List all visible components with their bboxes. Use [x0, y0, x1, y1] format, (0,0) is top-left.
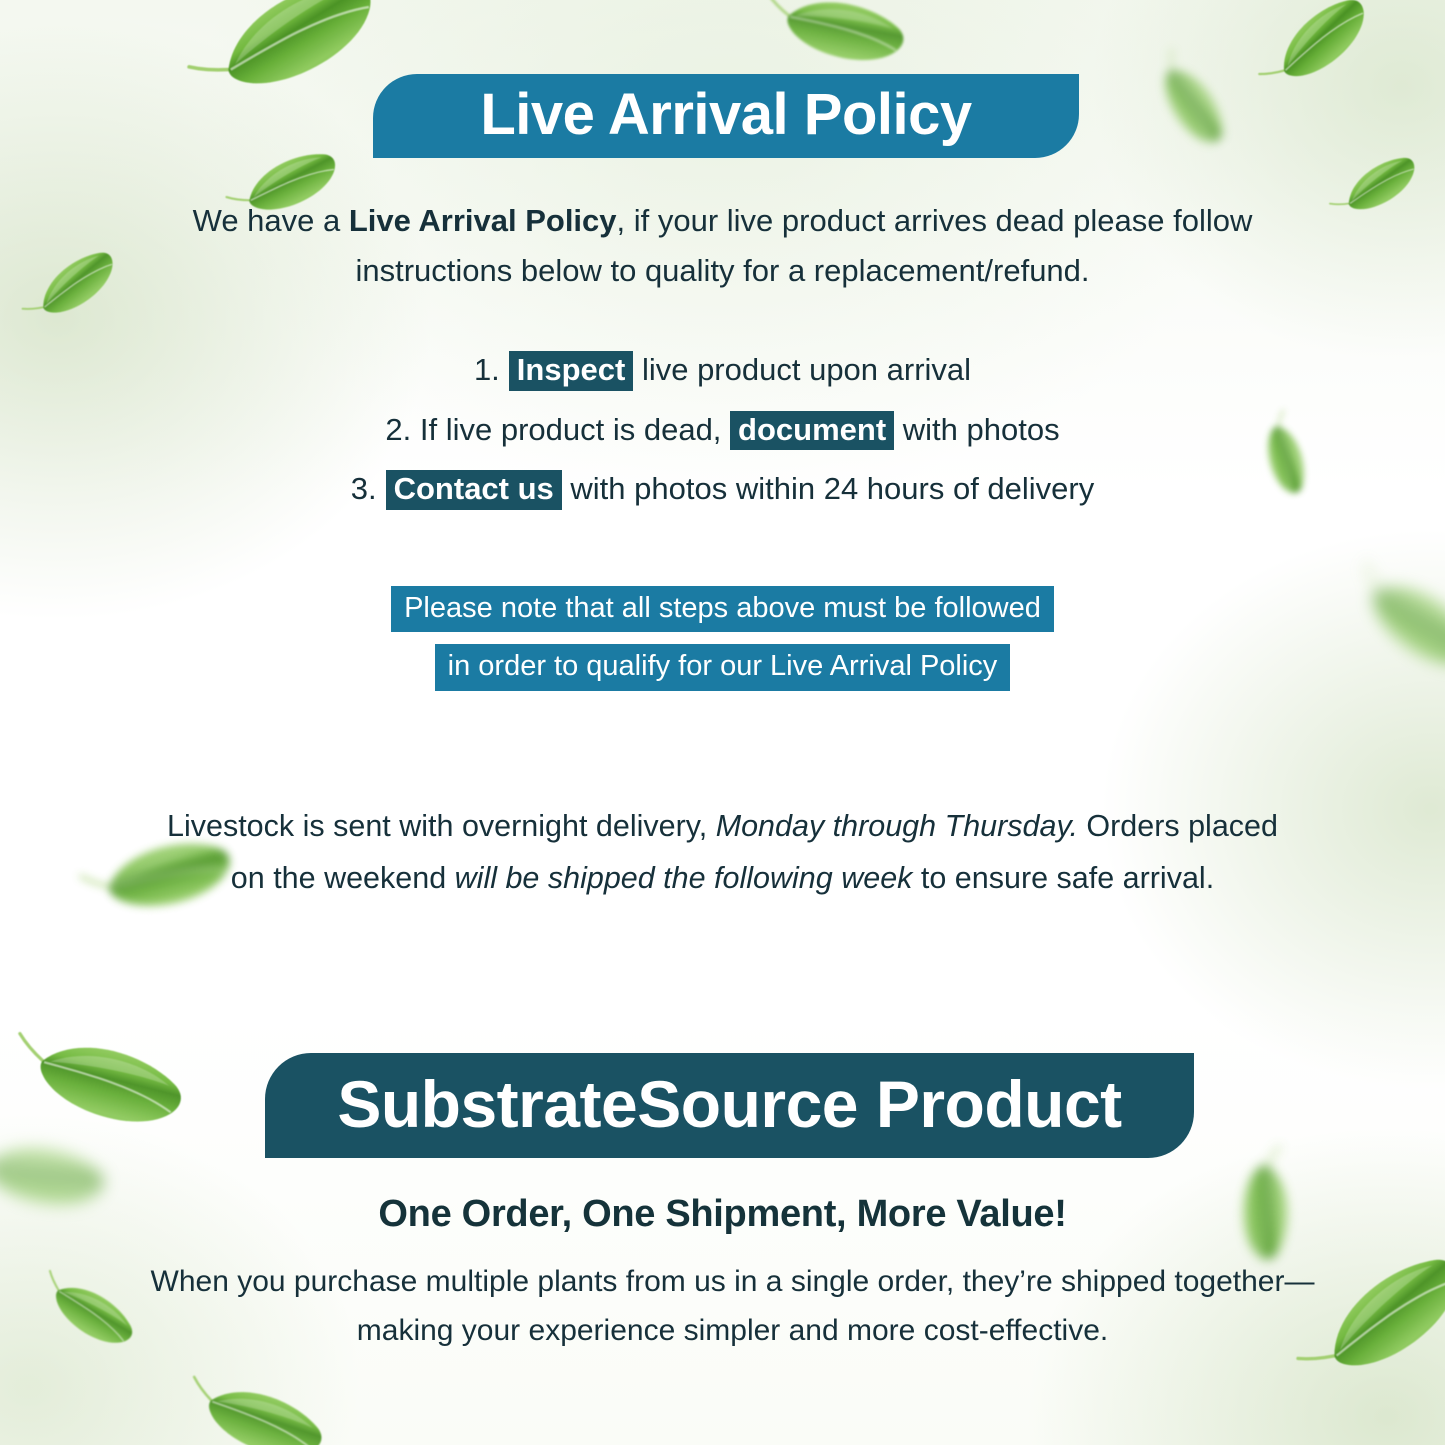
live-arrival-policy-infographic: Live Arrival Policy We have a Live Arriv…: [0, 0, 1445, 1445]
step-3-highlight: Contact us: [386, 470, 562, 510]
step-1-number: 1.: [474, 352, 500, 387]
shipping-text-seg4-italic: will be shipped the following week: [455, 861, 913, 895]
step-2-number: 2.: [385, 412, 411, 447]
policy-step-2: 2. If live product is dead, document wit…: [150, 410, 1295, 451]
live-arrival-policy-banner: Live Arrival Policy: [373, 74, 1079, 158]
step-2-text-before: If live product is dead,: [411, 412, 730, 447]
policy-step-3: 3.Contact us with photos within 24 hours…: [150, 469, 1295, 510]
live-arrival-policy-title: Live Arrival Policy: [480, 81, 971, 148]
policy-step-1: 1.Inspect live product upon arrival: [150, 350, 1295, 391]
value-subheading: One Order, One Shipment, More Value!: [150, 1193, 1295, 1236]
step-2-text-after: with photos: [894, 412, 1059, 447]
step-2-highlight: document: [730, 411, 894, 451]
substratesource-product-title: SubstrateSource Product: [337, 1066, 1121, 1142]
shipping-text-seg5: to ensure safe arrival.: [912, 861, 1214, 895]
intro-paragraph: We have a Live Arrival Policy, if your l…: [150, 196, 1295, 296]
intro-text-emphasis: Live Arrival Policy: [349, 203, 617, 238]
step-3-text: with photos within 24 hours of delivery: [562, 471, 1094, 506]
livestock-shipping-paragraph: Livestock is sent with overnight deliver…: [150, 800, 1295, 905]
intro-text-before: We have a: [193, 203, 349, 238]
policy-note-line-1: Please note that all steps above must be…: [391, 586, 1054, 632]
policy-steps-list: 1.Inspect live product upon arrival 2. I…: [150, 350, 1295, 529]
shipping-text-seg1: Livestock is sent with overnight deliver…: [167, 809, 716, 843]
value-paragraph: When you purchase multiple plants from u…: [150, 1258, 1315, 1355]
step-3-number: 3.: [351, 471, 377, 506]
policy-note-block: Please note that all steps above must be…: [150, 586, 1295, 703]
step-1-highlight: Inspect: [509, 351, 634, 391]
policy-note-line-2: in order to qualify for our Live Arrival…: [435, 644, 1011, 690]
shipping-text-seg2-italic: Monday through Thursday.: [716, 809, 1078, 843]
substratesource-product-banner: SubstrateSource Product: [265, 1053, 1194, 1158]
step-1-text: live product upon arrival: [633, 352, 971, 387]
